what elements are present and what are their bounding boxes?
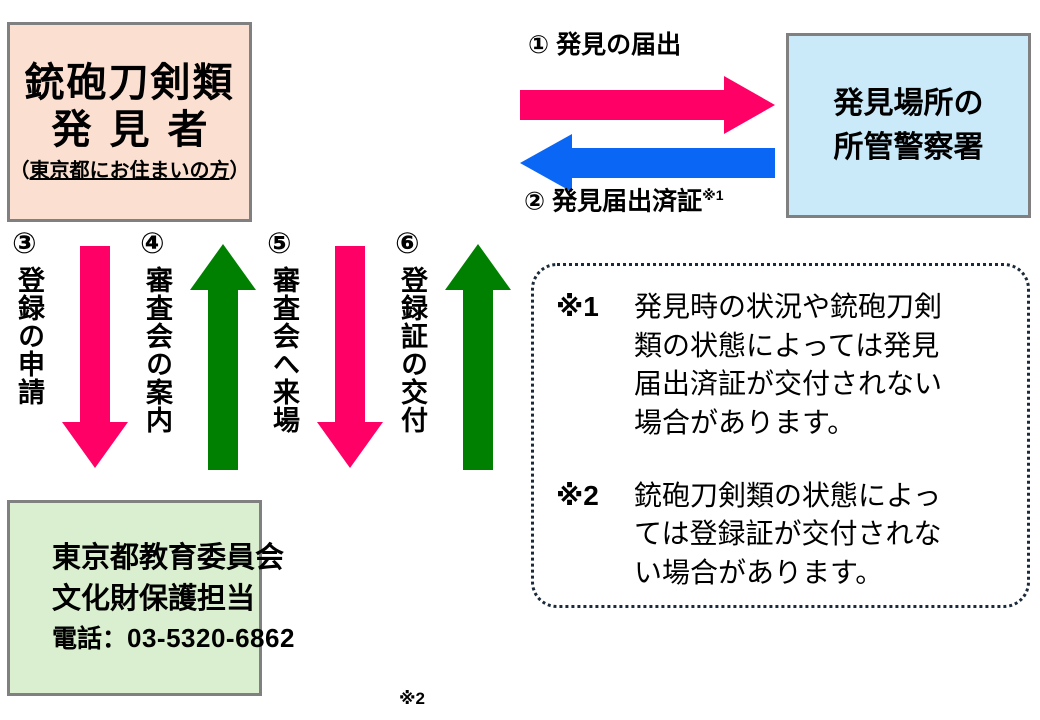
finder-paren-close: ） xyxy=(230,160,250,182)
flow-4-arrow-head xyxy=(190,244,256,290)
finder-box: 銃砲刀剣類 発見者 （東京都にお住まいの方） xyxy=(7,22,252,222)
flow-2-label: ② 発見届出済証※1 xyxy=(524,188,724,214)
flow-3-arrow-shaft xyxy=(80,246,110,424)
flow-1-label: ① 発見の届出 xyxy=(528,33,681,58)
footnote-2: ※2 銃砲刀剣類の状態によっ ては登録証が交付されな い場合があります。 xyxy=(556,477,1009,593)
flow-6-note-marker: ※2 xyxy=(399,690,425,707)
footnote-2-line: ては登録証が交付されな xyxy=(634,515,1009,554)
flow-1-arrow-shaft xyxy=(520,90,726,120)
flow-3-column: ③ 登録の申請 xyxy=(10,230,136,498)
board-box-telephone: 電話：03-5320-6862 xyxy=(52,620,295,658)
footnote-2-body: 銃砲刀剣類の状態によっ ては登録証が交付されな い場合があります。 xyxy=(634,477,1009,593)
board-of-education-box: 東京都教育委員会 文化財保護担当 電話：03-5320-6862 xyxy=(7,500,262,696)
finder-box-line1: 銃砲刀剣類 xyxy=(25,61,235,106)
footnote-1: ※1 発見時の状況や銃砲刀剣 類の状態によっては発見 届出済証が交付されない 場… xyxy=(556,288,1009,443)
footnotes-panel: ※1 発見時の状況や銃砲刀剣 類の状態によっては発見 届出済証が交付されない 場… xyxy=(531,263,1030,608)
flow-6-number: ⑥ xyxy=(395,230,420,259)
flow-5-number: ⑤ xyxy=(267,230,292,259)
footnote-2-line: 銃砲刀剣類の状態によっ xyxy=(634,477,1009,516)
board-box-line1: 東京都教育委員会 xyxy=(52,538,284,579)
flow-3-number: ③ xyxy=(12,230,37,259)
flow-6-column: ⑥ 登録証の交付 ※2 xyxy=(393,230,519,498)
flow-4-label: 審査会の案内 xyxy=(143,266,170,491)
flow-4-arrow-shaft xyxy=(208,288,238,470)
flow-2-label-superscript: ※1 xyxy=(702,187,723,203)
flow-2-label-text: ② 発見届出済証 xyxy=(524,187,702,215)
flow-6-label: 登録証の交付 xyxy=(398,266,425,491)
footnote-2-line: い場合があります。 xyxy=(634,554,1009,593)
flow-3-arrow-head xyxy=(62,422,128,468)
flow-1-arrow-head xyxy=(724,76,775,134)
flow-2-arrow-shaft xyxy=(571,148,775,178)
flow-2-arrow-head xyxy=(520,134,572,192)
board-box-line2: 文化財保護担当 xyxy=(52,579,255,620)
flow-4-arrow xyxy=(190,244,256,470)
footnote-2-marker: ※2 xyxy=(556,477,634,516)
footnote-1-line: 届出済証が交付されない xyxy=(634,365,1009,404)
flow-6-arrow-shaft xyxy=(463,288,493,470)
finder-box-line2: 発見者 xyxy=(34,108,226,153)
footnote-1-marker: ※1 xyxy=(556,288,634,327)
flow-6-arrow xyxy=(445,244,511,470)
telephone-number: 03-5320-6862 xyxy=(127,623,295,653)
finder-paren-open: （ xyxy=(10,160,30,182)
telephone-label: 電話： xyxy=(52,625,127,653)
diagram-canvas: 銃砲刀剣類 発見者 （東京都にお住まいの方） 発見場所の 所管警察署 東京都教育… xyxy=(0,0,1040,720)
flow-5-arrow-shaft xyxy=(335,246,365,424)
footnote-1-line: 場合があります。 xyxy=(634,404,1009,443)
flow-1-arrow xyxy=(520,75,775,135)
flow-2-arrow xyxy=(520,135,775,191)
flow-5-column: ⑤ 審査会へ来場 xyxy=(265,230,391,498)
finder-box-line3: （東京都にお住まいの方） xyxy=(10,159,250,183)
flow-5-label: 審査会へ来場 xyxy=(270,266,297,491)
flow-5-arrow-head xyxy=(317,422,383,468)
footnote-1-line: 発見時の状況や銃砲刀剣 xyxy=(634,288,1009,327)
footnote-1-line: 類の状態によっては発見 xyxy=(634,327,1009,366)
flow-1-label-text: ① 発見の届出 xyxy=(528,31,681,59)
flow-5-arrow xyxy=(317,246,383,468)
police-station-box: 発見場所の 所管警察署 xyxy=(786,33,1031,218)
flow-4-number: ④ xyxy=(140,230,165,259)
flow-3-arrow xyxy=(62,246,128,468)
police-box-line2: 所管警察署 xyxy=(834,126,984,170)
flow-4-column: ④ 審査会の案内 xyxy=(138,230,264,498)
flow-6-arrow-head xyxy=(445,244,511,290)
flow-3-label: 登録の申請 xyxy=(15,266,42,491)
police-box-line1: 発見場所の xyxy=(834,82,984,126)
finder-residence-note: 東京都にお住まいの方 xyxy=(30,160,230,182)
footnote-1-body: 発見時の状況や銃砲刀剣 類の状態によっては発見 届出済証が交付されない 場合があ… xyxy=(634,288,1009,443)
